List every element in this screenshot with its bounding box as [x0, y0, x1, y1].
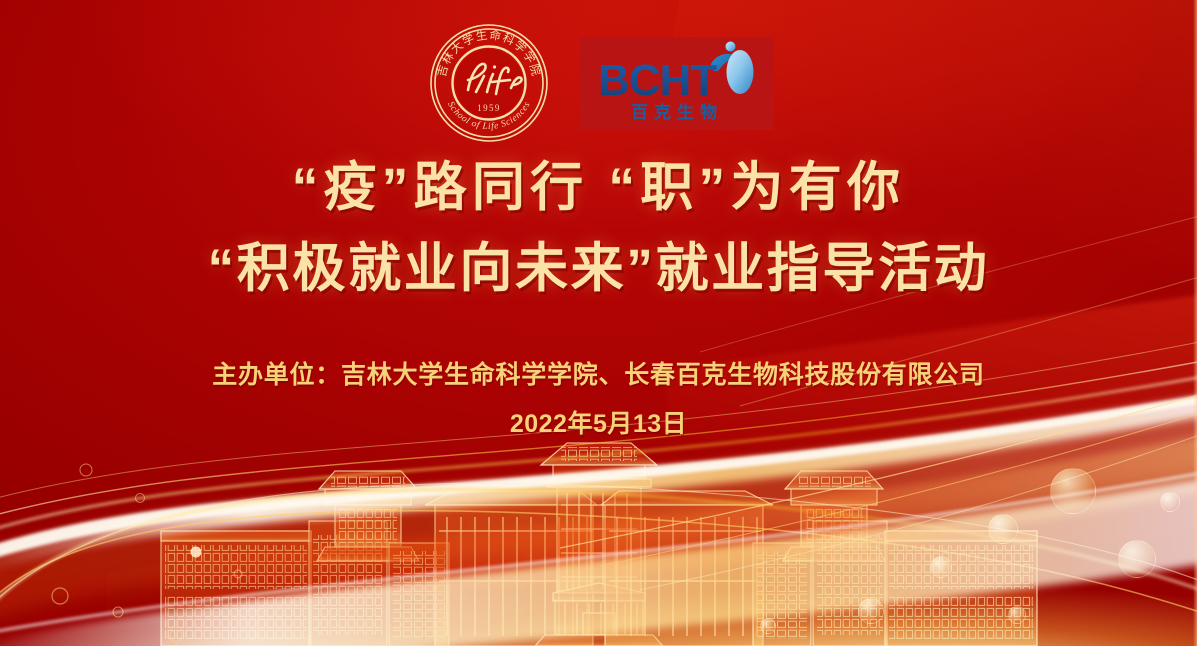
- svg-text:百克生物: 百克生物: [631, 102, 723, 122]
- logo-row: 1959 吉林大学生命科学学院 School of Life Sciences: [0, 22, 1197, 144]
- bottom-gold-glow: [0, 466, 1197, 646]
- event-poster: 1959 吉林大学生命科学学院 School of Life Sciences: [0, 0, 1197, 646]
- event-date: 2022年5月13日: [0, 404, 1197, 440]
- headline-line-1: “疫”路同行 “职”为有你: [0, 158, 1197, 218]
- poster-headline: “疫”路同行 “职”为有你 “积极就业向未来”就业指导活动: [0, 158, 1197, 300]
- organizers-line: 主办单位：吉林大学生命科学学院、长春百克生物科技股份有限公司: [0, 358, 1197, 392]
- svg-text:BCHT: BCHT: [598, 56, 717, 105]
- jilin-university-life-sciences-seal: 1959 吉林大学生命科学学院 School of Life Sciences: [424, 22, 554, 144]
- bcht-company-logo: BCHT 百克生物: [580, 37, 774, 130]
- svg-text:1959: 1959: [477, 103, 501, 113]
- poster-details: 主办单位：吉林大学生命科学学院、长春百克生物科技股份有限公司 2022年5月13…: [0, 358, 1197, 440]
- headline-line-2: “积极就业向未来”就业指导活动: [0, 238, 1197, 300]
